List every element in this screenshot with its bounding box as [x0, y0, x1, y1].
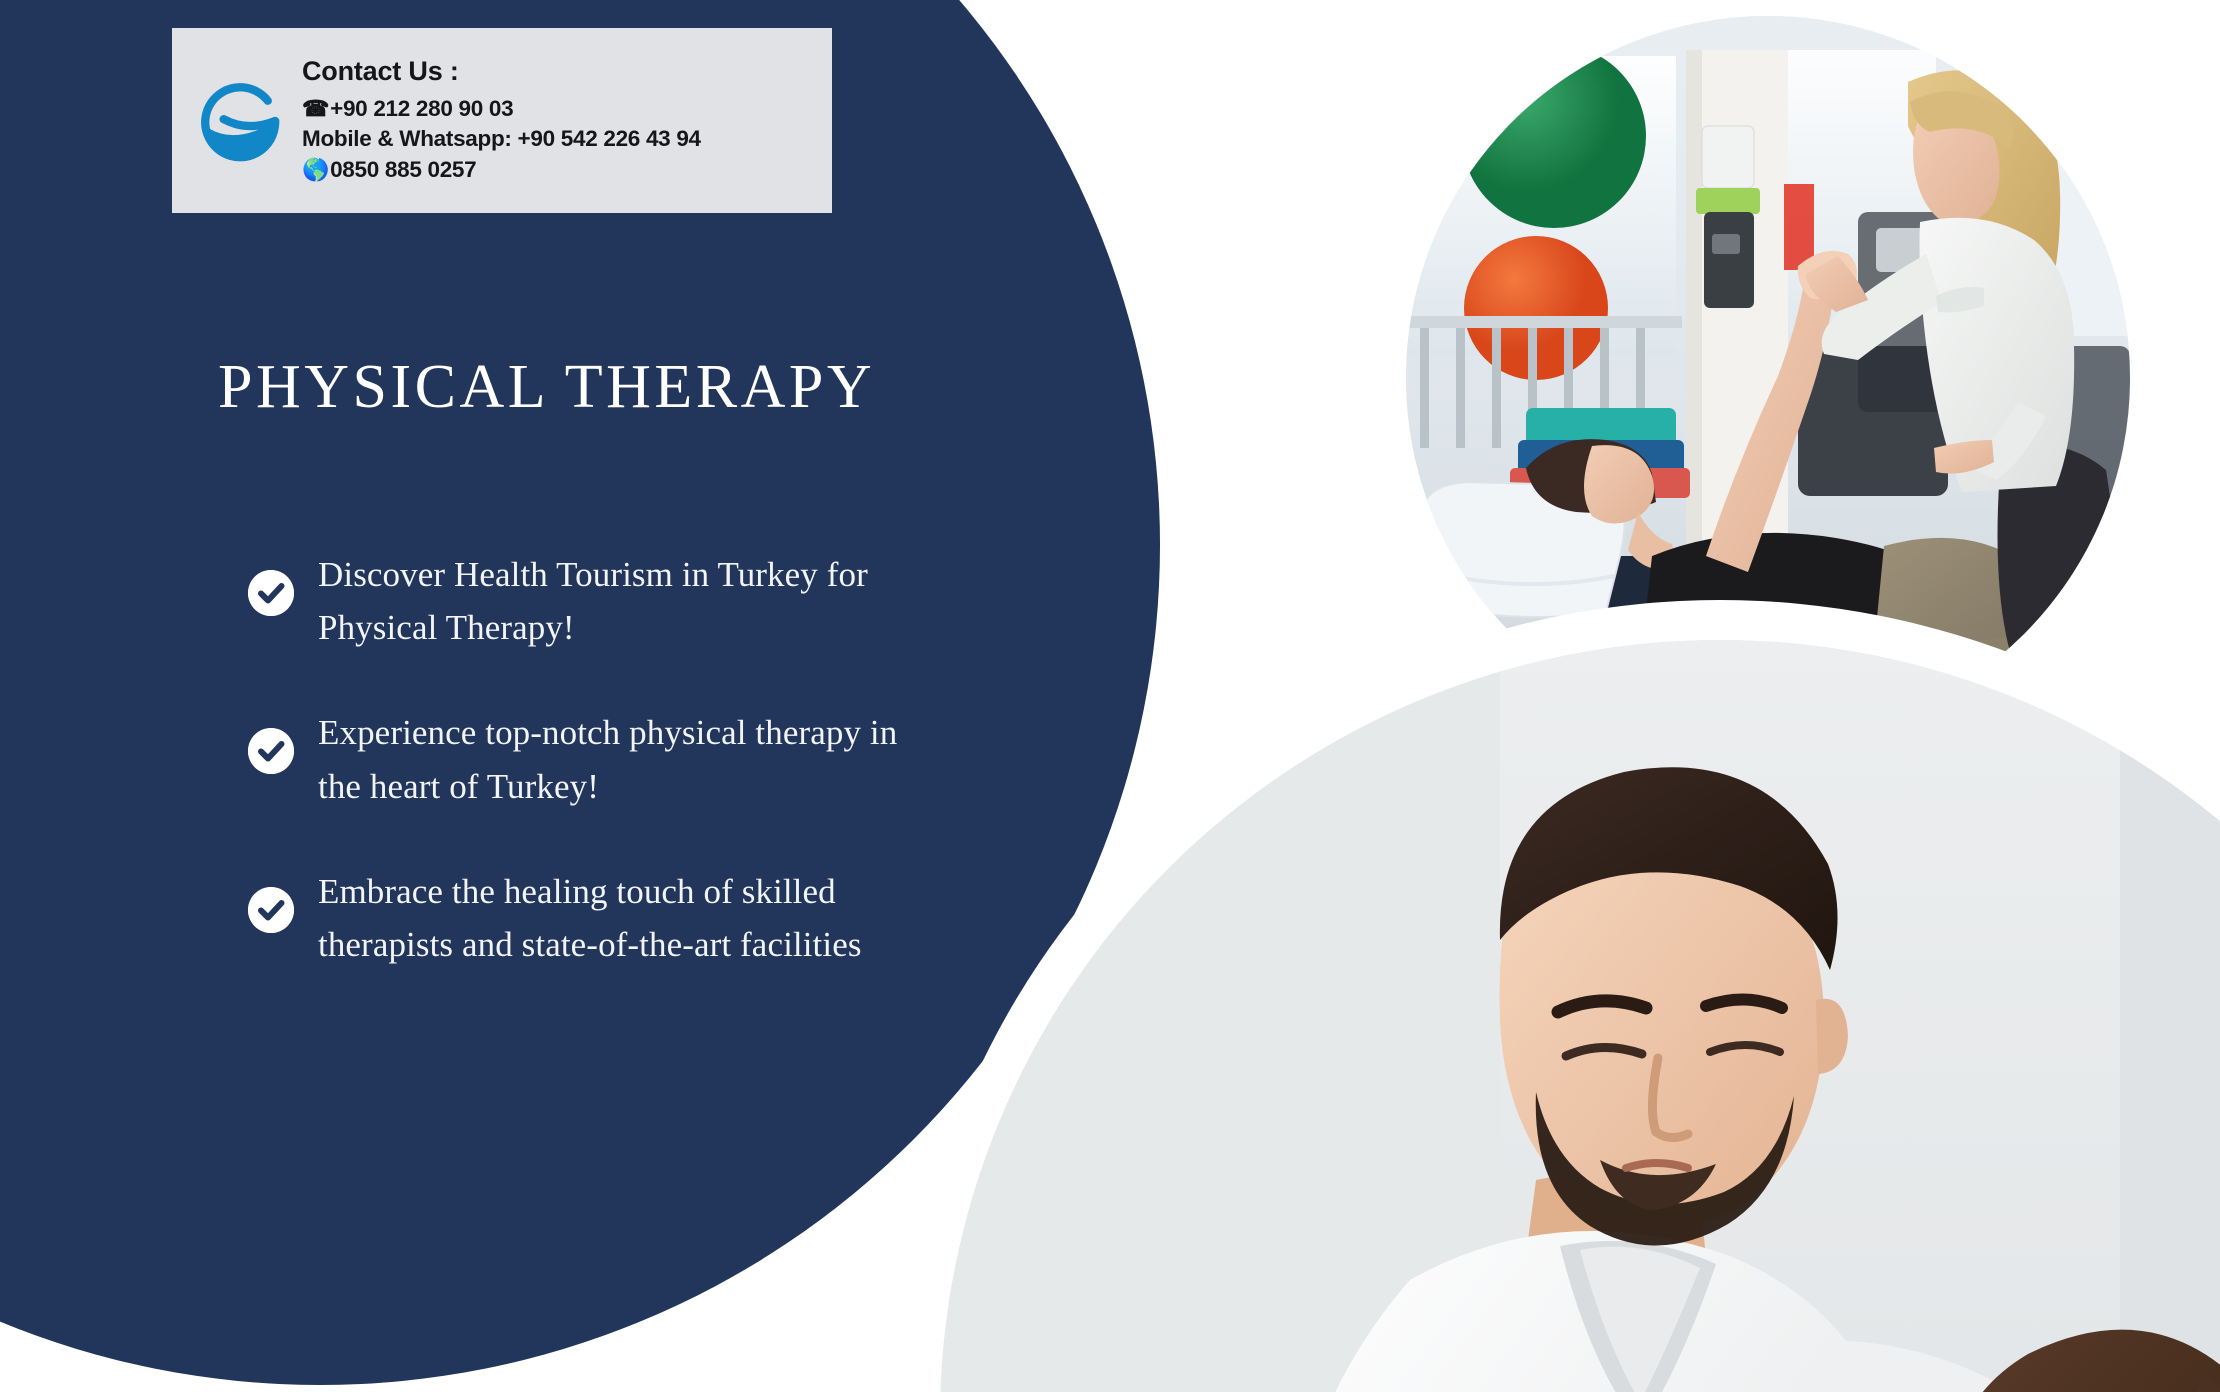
contact-card: Contact Us : ☎ +90 212 280 90 03 Mobile … — [172, 28, 832, 213]
contact-text-block: Contact Us : ☎ +90 212 280 90 03 Mobile … — [296, 56, 701, 186]
photo-bottom-illustration — [940, 640, 2220, 1392]
benefit-text: Embrace the healing touch of skilled the… — [318, 865, 908, 971]
g-logo-icon — [188, 67, 296, 175]
benefit-text: Discover Health Tourism in Turkey for Ph… — [318, 548, 908, 654]
contact-title: Contact Us : — [302, 56, 701, 87]
g-logo-svg — [196, 75, 288, 167]
photo-therapist-neck-treatment — [940, 640, 2220, 1392]
benefit-text: Experience top-notch physical therapy in… — [318, 706, 908, 812]
contact-line-hotline: 🌎 0850 885 0257 — [302, 155, 701, 186]
poster-canvas: Contact Us : ☎ +90 212 280 90 03 Mobile … — [0, 0, 2220, 1392]
contact-whatsapp-value: Mobile & Whatsapp: +90 542 226 43 94 — [302, 124, 701, 155]
telephone-icon: ☎ — [302, 98, 329, 120]
list-item: Embrace the healing touch of skilled the… — [248, 865, 908, 971]
contact-line-phone: ☎ +90 212 280 90 03 — [302, 94, 701, 125]
contact-phone-value: +90 212 280 90 03 — [330, 94, 513, 125]
list-item: Discover Health Tourism in Turkey for Ph… — [248, 548, 908, 654]
page-title: PHYSICAL THERAPY — [218, 352, 875, 423]
contact-line-whatsapp: Mobile & Whatsapp: +90 542 226 43 94 — [302, 124, 701, 155]
check-circle-icon — [248, 570, 294, 616]
globe-icon: 🌎 — [302, 159, 329, 181]
contact-hotline-value: 0850 885 0257 — [330, 155, 476, 186]
list-item: Experience top-notch physical therapy in… — [248, 706, 908, 812]
benefits-list: Discover Health Tourism in Turkey for Ph… — [248, 548, 908, 1023]
check-circle-icon — [248, 887, 294, 933]
check-circle-icon — [248, 728, 294, 774]
